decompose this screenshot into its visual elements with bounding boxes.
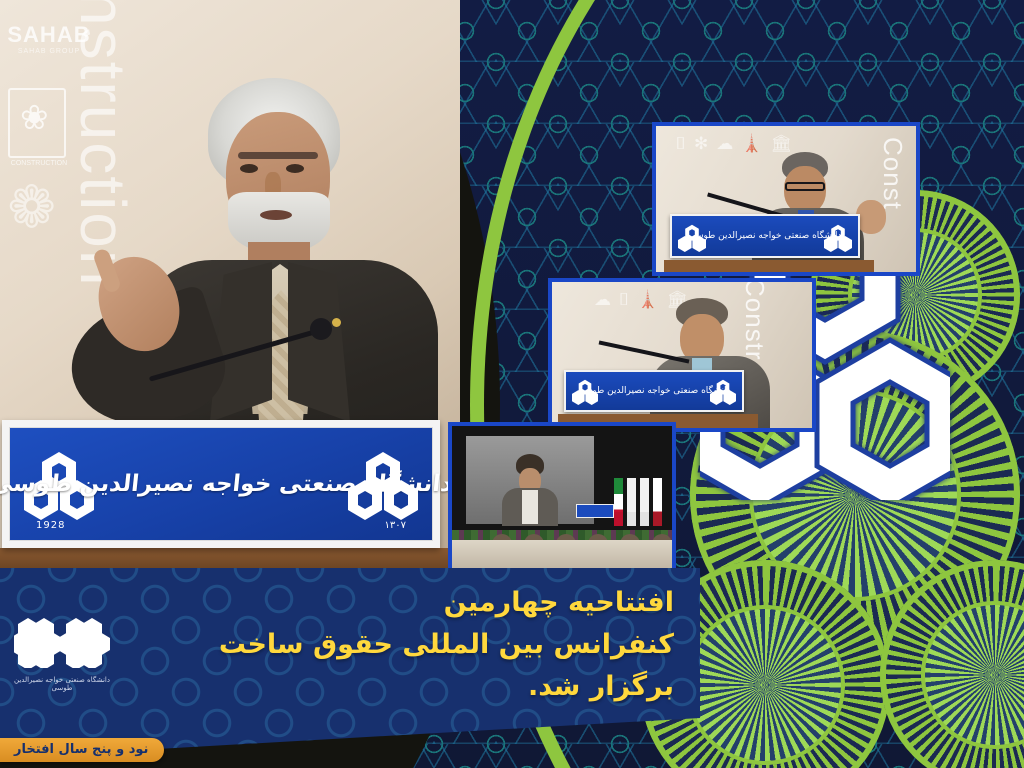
sponsor-frame-icon (8, 88, 66, 158)
remote-speaker-shirt (522, 490, 538, 524)
inset-podium-sign: دانشگاه صنعتی خواجه نصیرالدین طوسی (564, 370, 744, 412)
inset-photo-1: l Const 🏛 🗼 ☁ ✻ ⌷ دانشگاه صنعتی خواجه نص… (652, 122, 920, 276)
speaker-mouth (260, 210, 292, 220)
poster-canvas: nstruction SAHAB SAHAB GROUP CONSTRUCTIO… (0, 0, 1024, 768)
knt-emblem-icon (710, 379, 736, 405)
announcement-title: افتتاحیه چهارمین کنفرانس بین المللی حقوق… (114, 582, 674, 708)
snowflake-icon: ✻ (694, 134, 708, 154)
projection-screen (466, 436, 594, 524)
speaker-lapel-pin (332, 318, 341, 327)
sahab-logo-sub: SAHAB GROUP (4, 48, 94, 55)
inset-sponsor-icons: 🏛 🗼 ☁ ✻ ⌷ (662, 134, 792, 154)
bank-icon: 🏛 (770, 134, 792, 154)
inset-photo-2: Constr 🏛 🗼 ⌷ ☁ دانشگاه صنعتی خواجه نصیرا… (548, 278, 816, 432)
speaker-eye-right (286, 164, 304, 173)
announcement-title-line-1: افتتاحیه چهارمین (114, 582, 674, 624)
inset-speaker-hand (856, 200, 886, 234)
knt-emblem-icon (678, 224, 706, 252)
cloud-icon: ☁ (594, 290, 611, 310)
inset-backdrop-text: l Const (877, 122, 908, 210)
stage-podium-sign (576, 504, 614, 518)
stamp-icon: ⌷ (619, 290, 629, 310)
flag-icon (653, 478, 662, 526)
inset-podium-desk (664, 260, 874, 272)
podium-sign: دانشگاه صنعتی خواجه نصیرالدین طوسی 1928 … (2, 420, 440, 548)
inset-photo-3 (448, 422, 676, 580)
anniversary-logo: دانشگاه صنعتی خواجه نصیرالدین طوسی (10, 616, 114, 692)
knt-emblem-icon (572, 379, 598, 405)
inset-podium-sign: دانشگاه صنعتی خواجه نصیرالدین طوسی (670, 214, 860, 258)
flag-row (614, 478, 662, 526)
stamp-icon: ⌷ (676, 134, 686, 154)
sahab-sponsor-logo: SAHAB SAHAB GROUP (4, 22, 94, 55)
sahab-logo-name: SAHAB (4, 22, 94, 48)
podium-year-gregorian: 1928 (36, 520, 65, 531)
inset-podium-text: دانشگاه صنعتی خواجه نصیرالدین طوسی (577, 386, 730, 396)
flag-icon (640, 478, 649, 526)
auditorium-scene (452, 426, 672, 576)
remote-speaker-figure (500, 454, 558, 524)
iran-flag-icon (614, 478, 623, 526)
knt-emblem-icon (824, 224, 852, 252)
podium-year-persian: ۱۳۰۷ (385, 520, 406, 531)
tower-icon: 🗼 (741, 134, 762, 154)
cloud-icon: ☁ (716, 134, 733, 154)
anniversary-95-emblem-icon (14, 616, 110, 668)
inset-podium-text: دانشگاه صنعتی خواجه نصیرالدین طوسی (688, 231, 841, 241)
microphone-icon (310, 318, 332, 340)
knt-emblem-icon (348, 450, 418, 520)
speaker-eye-left (240, 164, 258, 173)
speaker-brow (238, 152, 318, 159)
anniversary-caption: دانشگاه صنعتی خواجه نصیرالدین طوسی (10, 676, 114, 692)
podium-sign-inner: دانشگاه صنعتی خواجه نصیرالدین طوسی 1928 … (9, 427, 433, 541)
announcement-title-line-2: کنفرانس بین المللی حقوق ساخت (114, 624, 674, 666)
flower-icon: ❁ (0, 178, 56, 238)
anniversary-ribbon-label: نود و پنج سال افتخار (0, 738, 164, 762)
announcement-title-line-3: برگزار شد. (114, 666, 674, 708)
flag-icon (627, 478, 636, 526)
glasses-icon (785, 182, 825, 191)
